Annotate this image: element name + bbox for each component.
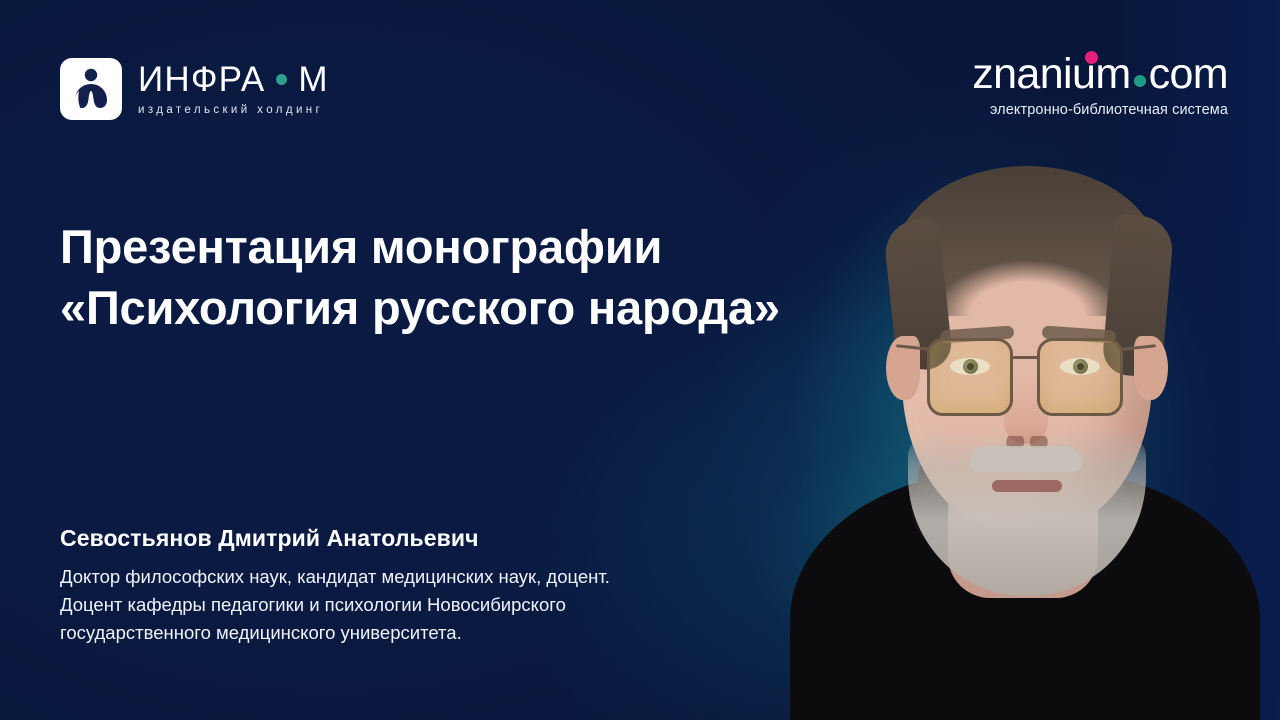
glasses-bridge [1012, 356, 1040, 359]
znanium-word-znanium: znanium [972, 50, 1130, 98]
infra-m-name-part-1: ИНФРА [138, 62, 265, 97]
infra-m-figure-icon [60, 58, 122, 120]
speaker-name: Севостьянов Дмитрий Анатольевич [60, 524, 820, 553]
speaker-credentials: Доктор философских наук, кандидат медици… [60, 563, 820, 647]
title-line-2: «Психология русского народа» [60, 277, 920, 338]
presentation-slide: ИНФРА М издательский холдинг znaniumcom … [0, 0, 1280, 720]
infra-m-name-row: ИНФРА М [138, 62, 329, 97]
znanium-logo[interactable]: znaniumcom электронно-библиотечная систе… [972, 52, 1228, 118]
teal-dot-separator-icon [1134, 75, 1146, 87]
mustache [970, 446, 1082, 472]
title-line-1: Презентация монографии [60, 216, 920, 277]
page-title: Презентация монографии «Психология русск… [60, 216, 920, 338]
glasses-lens-right [1037, 338, 1123, 416]
speaker-block: Севостьянов Дмитрий Анатольевич Доктор ф… [60, 524, 820, 647]
infra-m-logo[interactable]: ИНФРА М издательский холдинг [60, 58, 329, 120]
infra-m-name-part-2: М [298, 62, 328, 97]
infra-m-tagline: издательский холдинг [138, 104, 329, 116]
credential-line-3: государственного медицинского университе… [60, 619, 820, 647]
teal-dot-icon [276, 74, 287, 85]
glasses-lens-left [927, 338, 1013, 416]
znanium-wordmark: znaniumcom [972, 52, 1228, 97]
mouth [992, 480, 1062, 492]
znanium-word-com: com [1149, 50, 1228, 98]
infra-m-wordmark: ИНФРА М издательский холдинг [138, 62, 329, 116]
znanium-tagline: электронно-библиотечная система [972, 102, 1228, 118]
credential-line-2: Доцент кафедры педагогики и психологии Н… [60, 591, 820, 619]
credential-line-1: Доктор философских наук, кандидат медици… [60, 563, 820, 591]
